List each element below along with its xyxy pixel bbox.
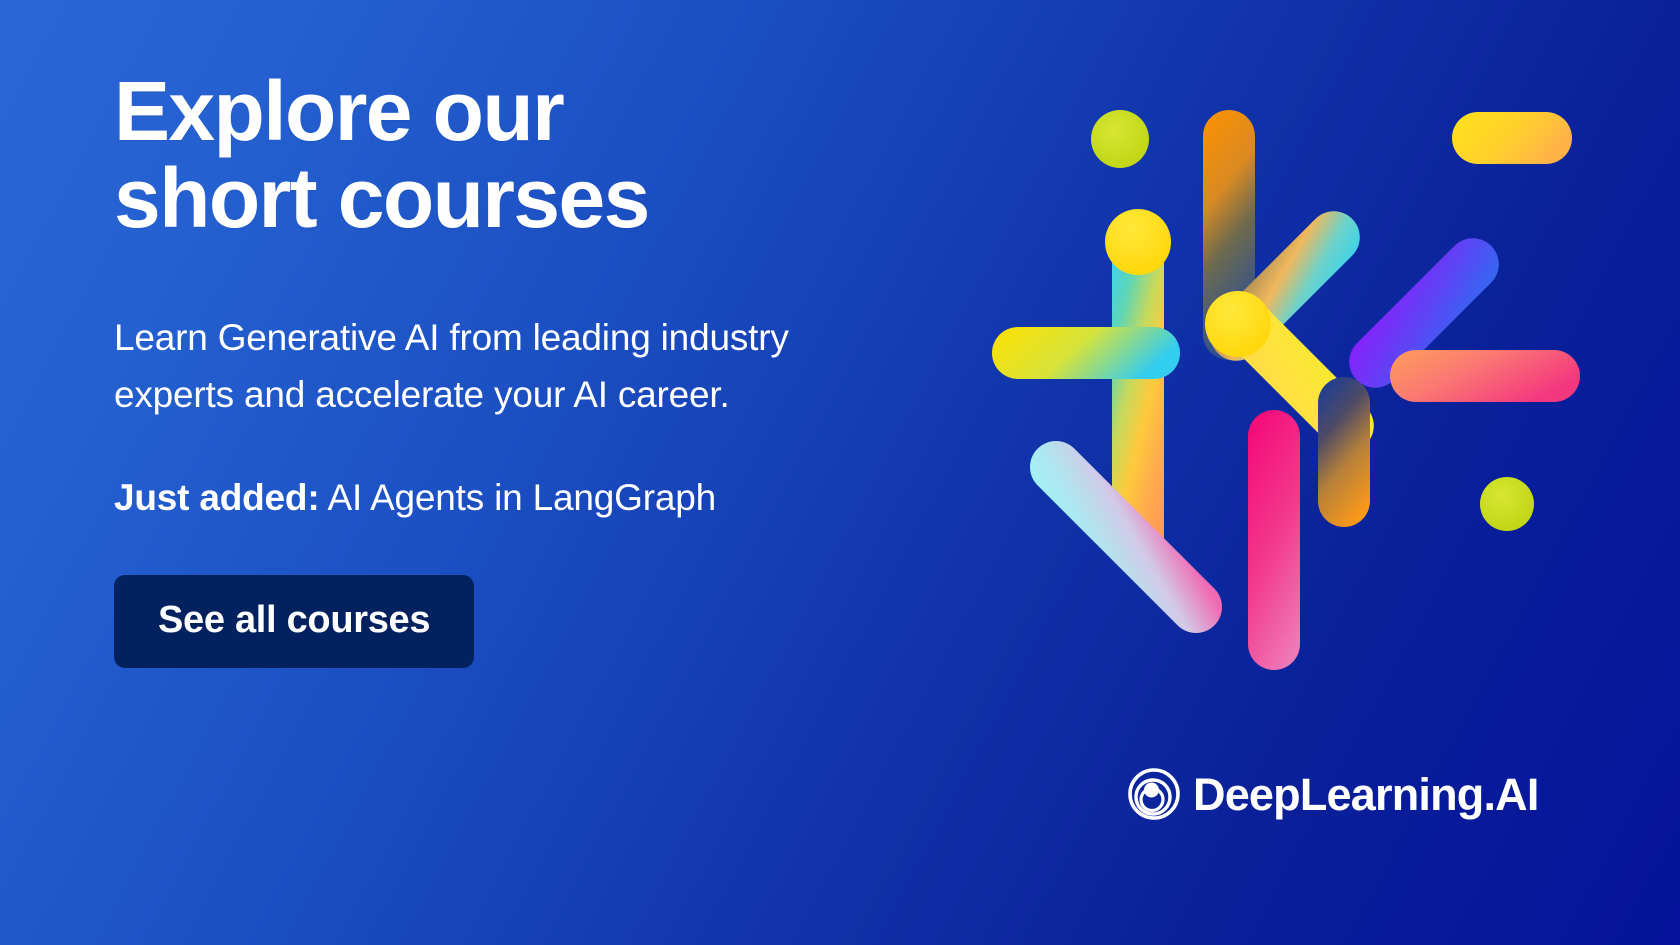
copy-block: Explore our short courses Learn Generati… [114, 68, 934, 668]
yellow-capsule-top-right [1452, 112, 1572, 164]
promo-banner: Explore our short courses Learn Generati… [0, 0, 1680, 945]
page-title: Explore our short courses [114, 68, 934, 243]
yellow-dot-center [1205, 291, 1271, 357]
yellow-dot-upper [1105, 209, 1171, 275]
orange-vertical-bar-lower [1318, 377, 1370, 527]
deeplearning-ai-wordmark: DeepLearning.AI [1193, 772, 1539, 817]
deeplearning-ai-spiral-mark [1128, 768, 1180, 820]
lime-dot-right [1480, 477, 1534, 531]
abstract-capsule-graphic [990, 92, 1530, 732]
subheadline-text: Learn Generative AI from leading industr… [114, 309, 904, 424]
pink-vertical-bar [1248, 410, 1300, 670]
just-added-course-name: AI Agents in LangGraph [319, 477, 716, 518]
see-all-courses-button[interactable]: See all courses [114, 575, 474, 668]
lime-dot-top-left [1091, 110, 1149, 168]
just-added-line: Just added: AI Agents in LangGraph [114, 474, 934, 522]
just-added-label: Just added: [114, 477, 319, 518]
yellow-horizontal-bar [992, 327, 1180, 379]
deeplearning-ai-logo: DeepLearning.AI [1128, 768, 1539, 820]
coral-horizontal-bar [1390, 350, 1580, 402]
